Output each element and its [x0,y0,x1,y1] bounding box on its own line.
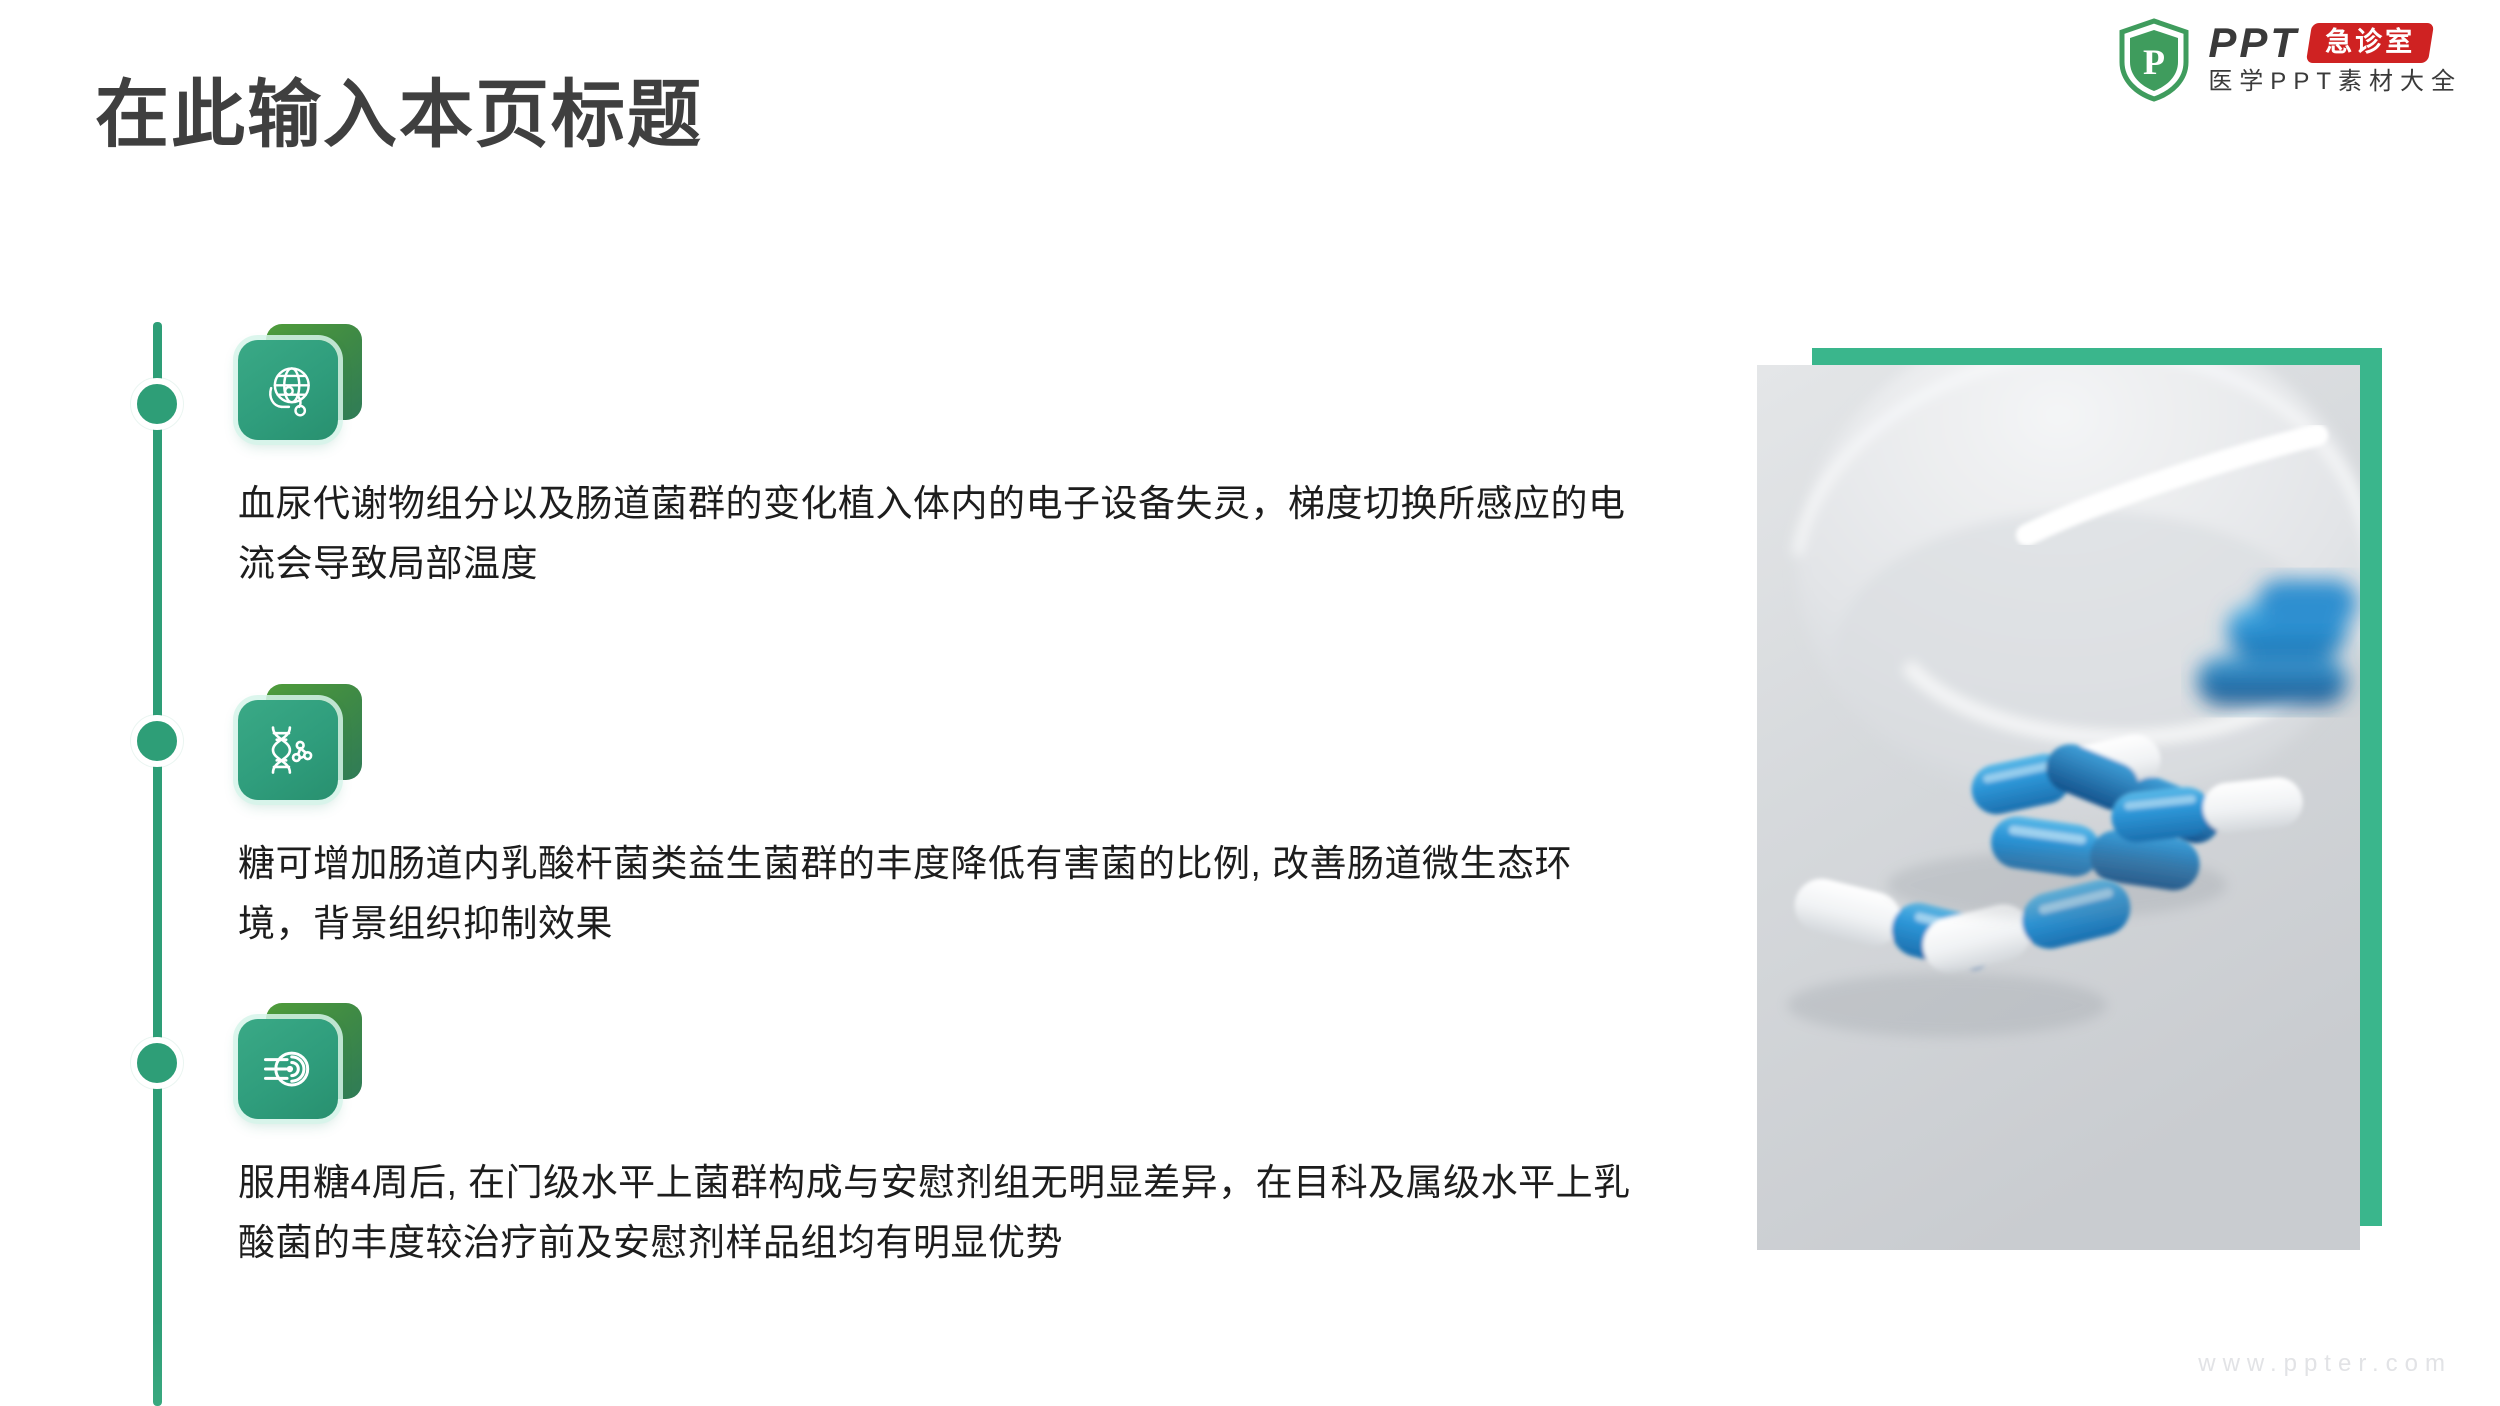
icon-stack-1 [238,324,370,442]
timeline-dot-3[interactable] [131,1037,183,1089]
icon-stack-2 [238,684,370,802]
capsules-photo [1757,365,2360,1250]
brand-badge: 急诊室 [2306,23,2434,63]
timeline-item-text-3: 服用糖4周后, 在门级水平上菌群构成与安慰剂组无明显差异，在目科及属级水平上乳酸… [238,1153,1638,1273]
brand-text-group: PPT 急诊室 医学PPT素材大全 [2208,18,2462,94]
svg-text:P: P [2143,42,2165,82]
brand-subtitle: 医学PPT素材大全 [2208,70,2462,94]
timeline-item-3[interactable]: 服用糖4周后, 在门级水平上菌群构成与安慰剂组无明显差异，在目科及属级水平上乳酸… [238,1003,370,1121]
timeline-item-2[interactable]: 糖可增加肠道内乳酸杆菌类益生菌群的丰度降低有害菌的比例, 改善肠道微生态环境，背… [238,684,370,802]
globe-stethoscope-icon [238,340,338,440]
icon-stack-3 [238,1003,370,1121]
brand-title-row: PPT 急诊室 [2208,22,2462,64]
timeline-dot-2[interactable] [131,715,183,767]
radar-target-icon [238,1019,338,1119]
timeline-rail [153,322,162,1406]
timeline-dot-1[interactable] [131,378,183,430]
timeline-item-text-1: 血尿代谢物组分以及肠道菌群的变化植入体内的电子设备失灵，梯度切换所感应的电流会导… [238,474,1638,594]
footer-watermark: www.ppter.com [2198,1350,2452,1378]
dna-molecule-icon [238,700,338,800]
shield-logo-icon: P [2118,18,2190,102]
brand-logo: P PPT 急诊室 医学PPT素材大全 [2118,18,2462,102]
brand-name: PPT [2208,22,2299,64]
page-title: 在此输入本页标题 [95,55,703,162]
slide-root: 在此输入本页标题 P PPT 急诊室 医学PPT素材大全 [0,0,2500,1406]
timeline-item-1[interactable]: 血尿代谢物组分以及肠道菌群的变化植入体内的电子设备失灵，梯度切换所感应的电流会导… [238,324,370,442]
timeline-item-text-2: 糖可增加肠道内乳酸杆菌类益生菌群的丰度降低有害菌的比例, 改善肠道微生态环境，背… [238,834,1638,954]
